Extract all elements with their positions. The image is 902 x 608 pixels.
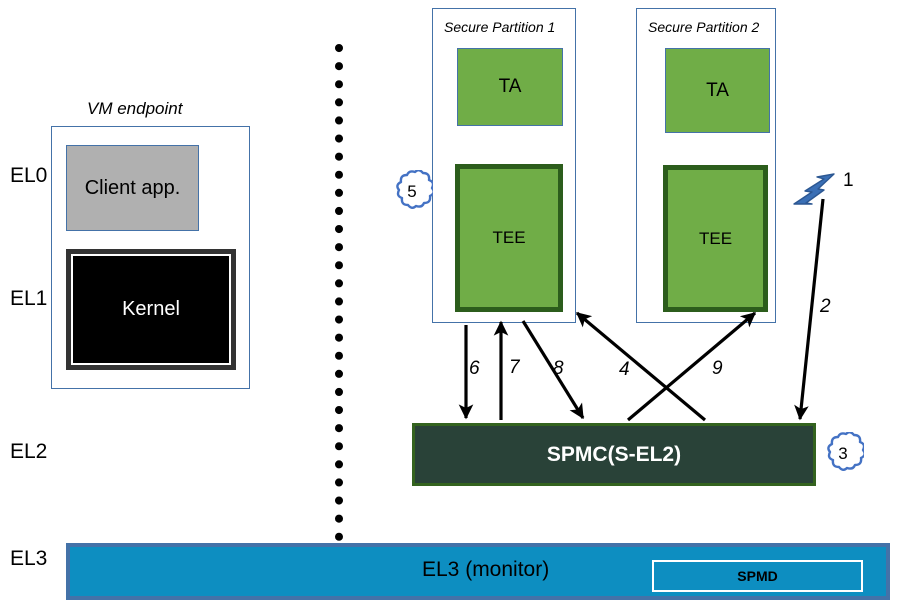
arrow-label-2: 2	[820, 296, 831, 318]
callout-3: 3	[822, 432, 864, 481]
spmd-box: SPMD	[652, 560, 863, 592]
el3-monitor-label: EL3 (monitor)	[422, 558, 549, 582]
callout-5: 5	[391, 170, 433, 219]
architecture-diagram: EL0 EL1 EL2 EL3 VM endpoint Client app. …	[0, 0, 902, 608]
spmc-box: SPMC(S-EL2)	[412, 423, 816, 486]
kernel-label: Kernel	[71, 254, 231, 365]
arrow-label-8: 8	[553, 358, 564, 380]
secure-partition-1-ta-box: TA	[457, 48, 563, 126]
callout-5-label: 5	[391, 170, 433, 214]
arrow-label-4: 4	[619, 359, 630, 381]
secure-partition-2-tee-box: TEE	[663, 165, 768, 312]
secure-partition-1-title: Secure Partition 1	[444, 19, 555, 35]
lightning-bolt-icon	[794, 174, 834, 204]
callout-3-label: 3	[822, 432, 864, 476]
client-app-box: Client app.	[66, 145, 199, 231]
secure-partition-2-title: Secure Partition 2	[648, 19, 759, 35]
arrow-label-6: 6	[469, 358, 480, 380]
exception-level-label-el3: EL3	[10, 548, 47, 569]
secure-partition-1-tee-box: TEE	[455, 164, 563, 312]
exception-level-label-el1: EL1	[10, 288, 47, 309]
callout-1-label: 1	[843, 170, 854, 192]
arrow-label-7: 7	[509, 357, 520, 379]
exception-level-label-el2: EL2	[10, 441, 47, 462]
arrow-4	[577, 313, 705, 420]
exception-level-label-el0: EL0	[10, 165, 47, 186]
secure-partition-2-ta-box: TA	[665, 48, 770, 133]
arrow-label-9: 9	[712, 358, 723, 380]
arrow-9	[628, 313, 755, 420]
kernel-box: Kernel	[66, 249, 236, 370]
vm-endpoint-title: VM endpoint	[87, 99, 182, 119]
